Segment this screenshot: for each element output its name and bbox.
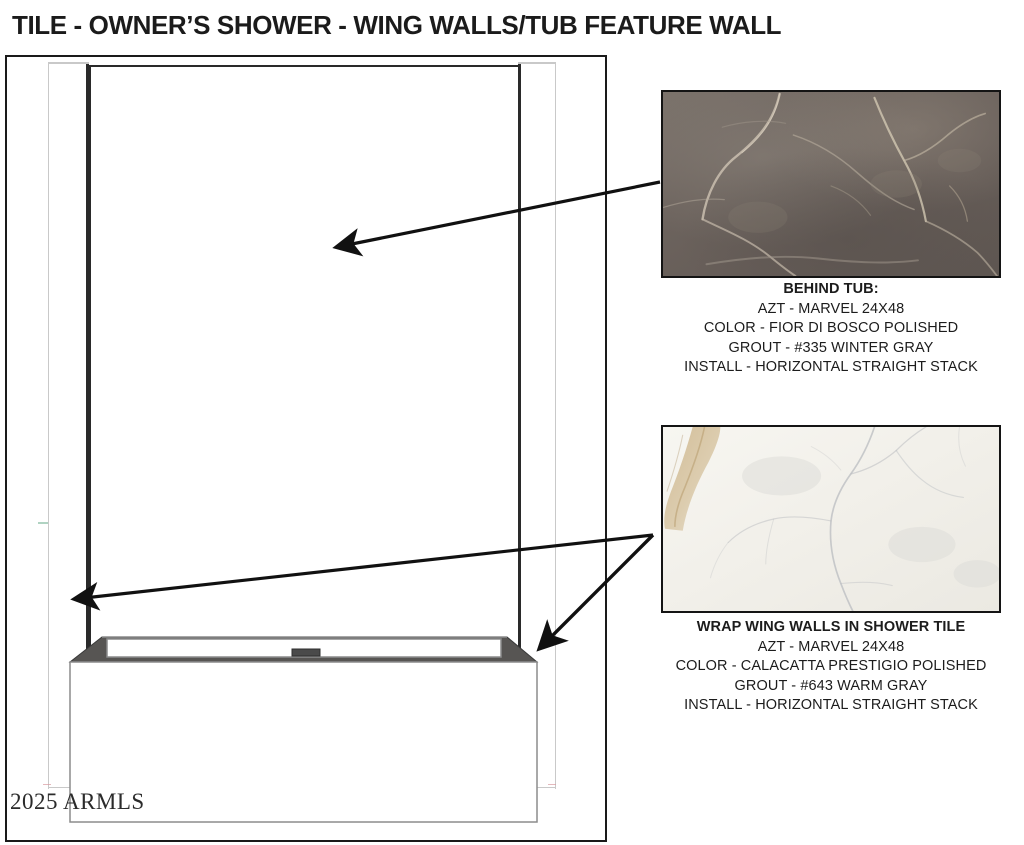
caption-behind-tub-line-3: GROUT - #335 WINTER GRAY [631, 339, 1024, 359]
tile-swatch-wing-walls[interactable] [661, 425, 1001, 613]
caption-behind-tub-line-1: AZT - MARVEL 24X48 [631, 300, 1024, 320]
page-title: TILE - OWNER’S SHOWER - WING WALLS/TUB F… [12, 6, 962, 44]
caption-behind-tub-header: BEHIND TUB: [631, 280, 1024, 300]
tile-swatch-behind-tub[interactable] [661, 90, 1001, 278]
caption-wing-walls-line-2: COLOR - CALACATTA PRESTIGIO POLISHED [631, 657, 1024, 677]
tub-overflow-drain [292, 649, 320, 656]
caption-wing-walls-line-1: AZT - MARVEL 24X48 [631, 638, 1024, 658]
light-marble-swatch [663, 427, 999, 611]
watermark-label: 2025 ARMLS [10, 789, 145, 815]
elevation-drawing-panel [5, 55, 607, 842]
dark-marble-swatch [663, 92, 999, 276]
caption-wing-walls-header: WRAP WING WALLS IN SHOWER TILE [631, 618, 1024, 638]
caption-behind-tub-line-4: INSTALL - HORIZONTAL STRAIGHT STACK [631, 358, 1024, 378]
caption-wing-walls-line-3: GROUT - #643 WARM GRAY [631, 677, 1024, 697]
caption-wing-walls-line-4: INSTALL - HORIZONTAL STRAIGHT STACK [631, 696, 1024, 716]
caption-wing-walls: WRAP WING WALLS IN SHOWER TILE AZT - MAR… [631, 618, 1024, 716]
caption-behind-tub: BEHIND TUB: AZT - MARVEL 24X48 COLOR - F… [631, 280, 1024, 378]
caption-behind-tub-line-2: COLOR - FIOR DI BOSCO POLISHED [631, 319, 1024, 339]
bathtub-elevation [7, 57, 607, 842]
